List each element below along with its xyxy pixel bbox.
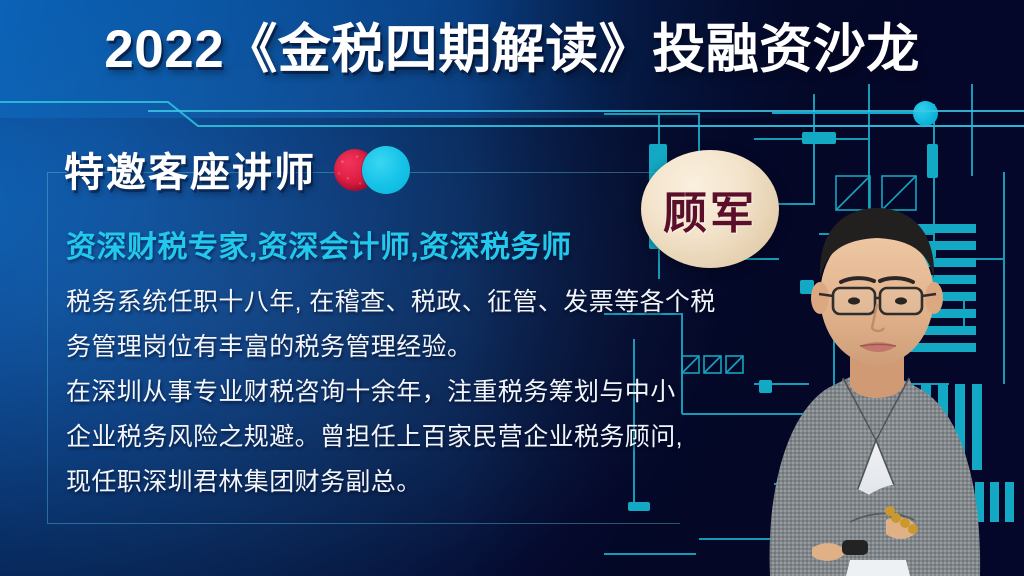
heading-row: 特邀客座讲师 — [64, 140, 426, 198]
bio-line: 在深圳从事专业财税咨询十余年，注重税务筹划与中小 — [66, 370, 726, 415]
speaker-credentials: 资深财税专家,资深会计师,资深税务师 — [66, 222, 572, 266]
decorative-dots — [334, 144, 426, 194]
bio-line: 企业税务风险之规避。曾担任上百家民营企业税务顾问, — [66, 415, 726, 460]
speaker-bio: 税务系统任职十八年, 在稽查、税政、征管、发票等各个税 务管理岗位有丰富的税务管… — [66, 280, 726, 505]
poster-root: 2022《金税四期解读》投融资沙龙 — [0, 0, 1024, 576]
speaker-name-badge: 顾军 — [641, 150, 779, 268]
bio-line: 务管理岗位有丰富的税务管理经验。 — [66, 325, 726, 370]
bio-line: 现任职深圳君林集团财务副总。 — [66, 460, 726, 505]
badge-name-label: 顾军 — [641, 150, 779, 268]
section-heading: 特邀客座讲师 — [64, 140, 316, 198]
header-divider — [0, 99, 1024, 127]
cyan-circle-icon — [362, 146, 410, 194]
bio-line: 税务系统任职十八年, 在稽查、税政、征管、发票等各个税 — [66, 280, 726, 325]
